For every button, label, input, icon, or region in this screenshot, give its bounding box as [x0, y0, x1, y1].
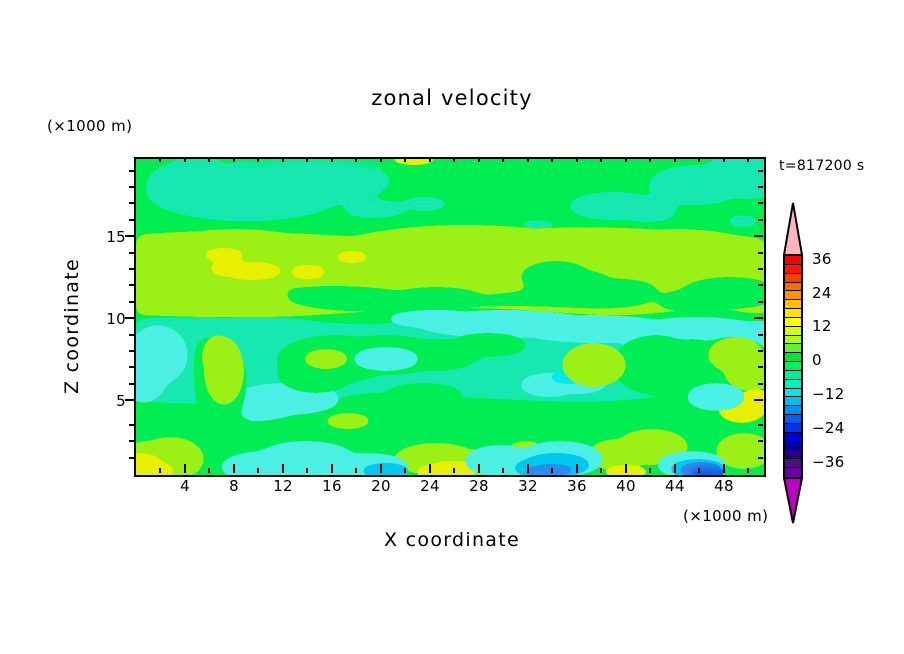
x-tick-label: 44: [653, 477, 697, 495]
x-tick-label: 16: [310, 477, 354, 495]
y-tick-label: 10: [86, 310, 126, 328]
y-tick-minor: [129, 301, 134, 303]
colorbar-segment: [785, 256, 801, 265]
x-tick-36: [576, 464, 578, 473]
x-tick-minor: [429, 157, 431, 162]
x-tick-minor: [674, 157, 676, 162]
x-tick-40: [625, 464, 627, 473]
x-tick-4: [184, 464, 186, 473]
contour-field: [136, 159, 764, 475]
x-axis-title: X coordinate: [0, 529, 904, 551]
y-axis-units-label: (×1000 m): [47, 117, 132, 135]
colorbar-tick-label: −12: [812, 385, 845, 403]
y-tick-label: 15: [86, 228, 126, 246]
y-tick-minor: [758, 186, 763, 188]
colorbar-segment: [785, 415, 801, 424]
x-tick-minor: [600, 157, 602, 162]
y-tick-minor: [758, 301, 763, 303]
x-tick-minor: [747, 157, 749, 162]
colorbar-segment: [785, 389, 801, 398]
x-tick-label: 12: [261, 477, 305, 495]
y-tick-15: [125, 235, 134, 237]
y-tick-minor: [129, 440, 134, 442]
y-tick-minor: [129, 424, 134, 426]
colorbar-segments: [783, 254, 803, 479]
x-tick-minor: [380, 157, 382, 162]
colorbar-segment: [785, 300, 801, 309]
x-tick-minor: [159, 468, 161, 473]
x-tick-minor: [723, 157, 725, 162]
x-tick-16: [331, 464, 333, 473]
colorbar-tick-label: 36: [812, 250, 832, 268]
x-tick-minor: [159, 157, 161, 162]
y-tick-minor: [129, 334, 134, 336]
y-tick-minor: [758, 350, 763, 352]
figure-canvas: zonal velocity (×1000 m) (×1000 m) X coo…: [0, 0, 904, 654]
x-tick-label: 48: [702, 477, 746, 495]
colorbar-segment: [785, 318, 801, 327]
x-tick-label: 36: [555, 477, 599, 495]
y-tick-minor: [758, 424, 763, 426]
colorbar-segment: [785, 362, 801, 371]
colorbar-under-arrow: [783, 477, 803, 524]
y-tick-minor: [758, 440, 763, 442]
x-tick-minor: [355, 157, 357, 162]
x-tick-32: [527, 464, 529, 473]
y-tick-minor: [758, 170, 763, 172]
x-tick-minor: [453, 468, 455, 473]
x-tick-12: [282, 464, 284, 473]
y-tick-10: [125, 317, 134, 319]
x-tick-minor: [649, 157, 651, 162]
x-tick-24: [429, 464, 431, 473]
x-tick-minor: [257, 157, 259, 162]
x-tick-minor: [698, 157, 700, 162]
colorbar-segment: [785, 274, 801, 283]
y-tick-minor: [129, 202, 134, 204]
x-tick-minor: [551, 468, 553, 473]
x-tick-20: [380, 464, 382, 473]
y-tick-minor: [758, 334, 763, 336]
x-tick-minor: [502, 468, 504, 473]
x-tick-label: 4: [163, 477, 207, 495]
plot-area: [134, 157, 766, 477]
y-tick-right-10: [754, 317, 763, 319]
y-tick-5: [125, 399, 134, 401]
y-tick-minor: [129, 350, 134, 352]
x-tick-minor: [600, 468, 602, 473]
page-title: zonal velocity: [0, 86, 904, 110]
x-tick-minor: [306, 157, 308, 162]
y-tick-minor: [129, 457, 134, 459]
x-tick-minor: [233, 157, 235, 162]
x-tick-minor: [208, 157, 210, 162]
y-tick-minor: [129, 383, 134, 385]
y-tick-minor: [758, 383, 763, 385]
y-tick-minor: [758, 219, 763, 221]
y-tick-minor: [758, 268, 763, 270]
colorbar-segment: [785, 450, 801, 459]
colorbar-segment: [785, 344, 801, 353]
x-tick-label: 8: [212, 477, 256, 495]
colorbar-tick-label: 0: [812, 351, 822, 369]
colorbar-segment: [785, 291, 801, 300]
y-tick-minor: [758, 202, 763, 204]
colorbar-segment: [785, 433, 801, 442]
y-tick-minor: [129, 268, 134, 270]
x-tick-label: 32: [506, 477, 550, 495]
y-tick-minor: [129, 252, 134, 254]
y-tick-minor: [129, 284, 134, 286]
x-tick-minor: [208, 468, 210, 473]
y-tick-minor: [129, 170, 134, 172]
x-tick-label: 20: [359, 477, 403, 495]
colorbar-segment: [785, 309, 801, 318]
y-axis-title: Z coordinate: [61, 216, 83, 436]
x-tick-minor: [649, 468, 651, 473]
x-tick-label: 28: [457, 477, 501, 495]
x-axis-units-label: (×1000 m): [683, 507, 768, 525]
x-tick-minor: [747, 468, 749, 473]
x-tick-minor: [282, 157, 284, 162]
colorbar-segment: [785, 380, 801, 389]
colorbar-tick-label: −24: [812, 419, 845, 437]
colorbar-tick-label: −36: [812, 453, 845, 471]
colorbar-segment: [785, 459, 801, 468]
y-tick-label: 5: [86, 392, 126, 410]
x-tick-44: [674, 464, 676, 473]
x-tick-minor: [306, 468, 308, 473]
x-tick-minor: [331, 157, 333, 162]
y-tick-minor: [129, 219, 134, 221]
y-tick-minor: [758, 284, 763, 286]
colorbar-tick-label: 24: [812, 284, 832, 302]
colorbar-segment: [785, 397, 801, 406]
x-tick-label: 24: [408, 477, 452, 495]
colorbar-segment: [785, 406, 801, 415]
x-tick-minor: [625, 157, 627, 162]
x-tick-minor: [257, 468, 259, 473]
x-tick-minor: [478, 157, 480, 162]
y-tick-minor: [758, 457, 763, 459]
y-tick-right-15: [754, 235, 763, 237]
x-tick-minor: [404, 468, 406, 473]
y-tick-minor: [129, 366, 134, 368]
y-tick-minor: [758, 366, 763, 368]
x-tick-minor: [184, 157, 186, 162]
colorbar-segment: [785, 336, 801, 345]
x-tick-minor: [355, 468, 357, 473]
x-tick-minor: [502, 157, 504, 162]
x-tick-minor: [453, 157, 455, 162]
y-tick-right-5: [754, 399, 763, 401]
x-tick-48: [723, 464, 725, 473]
colorbar-segment: [785, 327, 801, 336]
y-tick-minor: [129, 186, 134, 188]
colorbar-segment: [785, 353, 801, 362]
x-tick-minor: [404, 157, 406, 162]
x-tick-minor: [527, 157, 529, 162]
colorbar-segment: [785, 283, 801, 292]
colorbar: [779, 202, 807, 524]
x-tick-minor: [698, 468, 700, 473]
y-tick-minor: [758, 252, 763, 254]
colorbar-segment: [785, 424, 801, 433]
timestamp-annotation: t=817200 s: [779, 158, 864, 174]
colorbar-over-arrow: [783, 202, 803, 256]
x-tick-8: [233, 464, 235, 473]
colorbar-segment: [785, 442, 801, 451]
x-tick-minor: [551, 157, 553, 162]
x-tick-minor: [576, 157, 578, 162]
colorbar-segment: [785, 371, 801, 380]
x-tick-28: [478, 464, 480, 473]
colorbar-tick-label: 12: [812, 317, 832, 335]
x-tick-label: 40: [604, 477, 648, 495]
colorbar-segment: [785, 265, 801, 274]
colorbar-segment: [785, 468, 801, 477]
